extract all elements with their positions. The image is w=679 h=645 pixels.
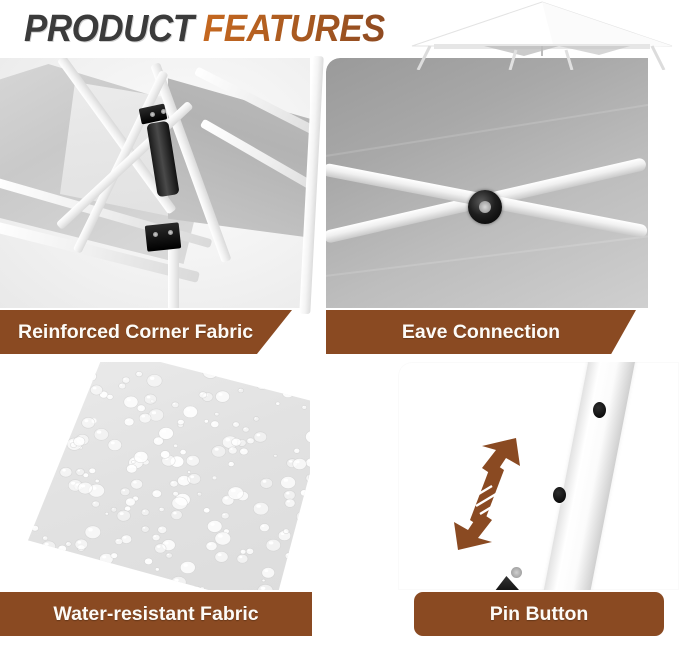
fabric-seam <box>326 231 648 279</box>
water-droplets <box>28 362 310 590</box>
bracket-screw <box>168 230 173 235</box>
eave-pivot-bolt <box>479 201 491 213</box>
pole-screw <box>511 567 522 578</box>
photo-pin-button <box>398 362 679 590</box>
caption-label: Water-resistant Fabric <box>53 603 258 626</box>
caption-label: Pin Button <box>490 603 589 626</box>
canopy-tent-illustration <box>404 0 679 70</box>
photo-reinforced-corner-fabric <box>0 58 310 308</box>
photo-water-resistant-fabric <box>0 362 310 590</box>
bracket-screw <box>153 232 158 237</box>
water-resistant-fabric-surface <box>28 362 310 590</box>
feature-panel-water-resistant-fabric <box>0 362 310 590</box>
feature-panel-eave-connection <box>326 58 648 308</box>
feature-panel-pin-button <box>398 362 679 590</box>
caption-eave-connection: Eave Connection <box>326 310 636 354</box>
caption-pin-button: Pin Button <box>414 592 664 636</box>
page-title-word-features: FEATURES <box>203 8 385 50</box>
height-adjust-arrow-icon <box>448 436 526 552</box>
canopy-leg-pole <box>540 362 639 590</box>
bracket-screw <box>150 112 155 117</box>
caption-water-resistant-fabric: Water-resistant Fabric <box>0 592 312 636</box>
caption-label: Eave Connection <box>402 321 560 344</box>
page-title: PRODUCTFEATURES <box>24 8 385 51</box>
caption-reinforced-corner-fabric: Reinforced Corner Fabric <box>0 310 292 354</box>
feature-panel-reinforced-corner-fabric <box>0 58 310 308</box>
page-title-word-product: PRODUCT <box>24 8 194 50</box>
metal-bracket-bottom <box>145 222 182 251</box>
bracket-screw <box>161 109 166 114</box>
canopy-leg-pole <box>168 248 179 308</box>
fabric-seam <box>326 98 648 159</box>
pole-foot-bracket <box>488 576 528 590</box>
photo-eave-connection <box>326 58 648 308</box>
caption-label: Reinforced Corner Fabric <box>18 321 253 344</box>
pin-button-hole <box>593 402 606 418</box>
pin-button-hole <box>553 487 566 503</box>
